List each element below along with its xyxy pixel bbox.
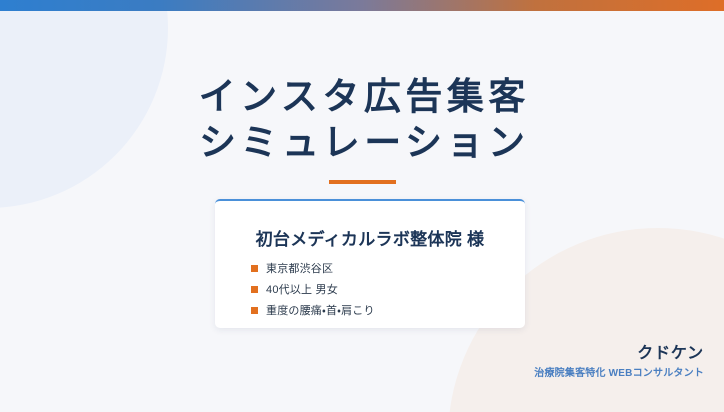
client-name: 初台メディカルラボ整体院 様	[215, 225, 525, 250]
client-attribute-symptoms: 重度の腰痛・首・肩こり	[266, 302, 375, 318]
footer-brand: クドケン 治療院集客特化 WEBコンサルタント	[534, 344, 704, 382]
client-attribute-location: 東京都渋谷区	[266, 260, 333, 276]
title-line-1: インスタ広告集客	[0, 74, 724, 120]
brand-tagline: 治療院集客特化 WEBコンサルタント	[534, 366, 704, 382]
title-line-2: シミュレーション	[0, 120, 724, 166]
slide-title: インスタ広告集客 シミュレーション	[0, 74, 724, 166]
top-gradient-bar	[0, 0, 724, 11]
list-item: 重度の腰痛・首・肩こり	[251, 301, 375, 319]
client-info-card: 初台メディカルラボ整体院 様 東京都渋谷区 40代以上 男女 重度の腰痛・首・肩…	[215, 199, 525, 328]
list-item: 東京都渋谷区	[251, 259, 375, 277]
square-bullet-icon	[251, 286, 258, 293]
square-bullet-icon	[251, 307, 258, 314]
title-accent-rule	[329, 180, 396, 184]
presentation-slide: インスタ広告集客 シミュレーション 初台メディカルラボ整体院 様 東京都渋谷区 …	[0, 0, 724, 412]
client-attribute-list: 東京都渋谷区 40代以上 男女 重度の腰痛・首・肩こり	[251, 259, 375, 322]
slide-content: インスタ広告集客 シミュレーション 初台メディカルラボ整体院 様 東京都渋谷区 …	[0, 0, 724, 412]
list-item: 40代以上 男女	[251, 280, 375, 298]
brand-name: クドケン	[534, 344, 704, 364]
square-bullet-icon	[251, 265, 258, 272]
client-attribute-demographic: 40代以上 男女	[266, 281, 338, 297]
